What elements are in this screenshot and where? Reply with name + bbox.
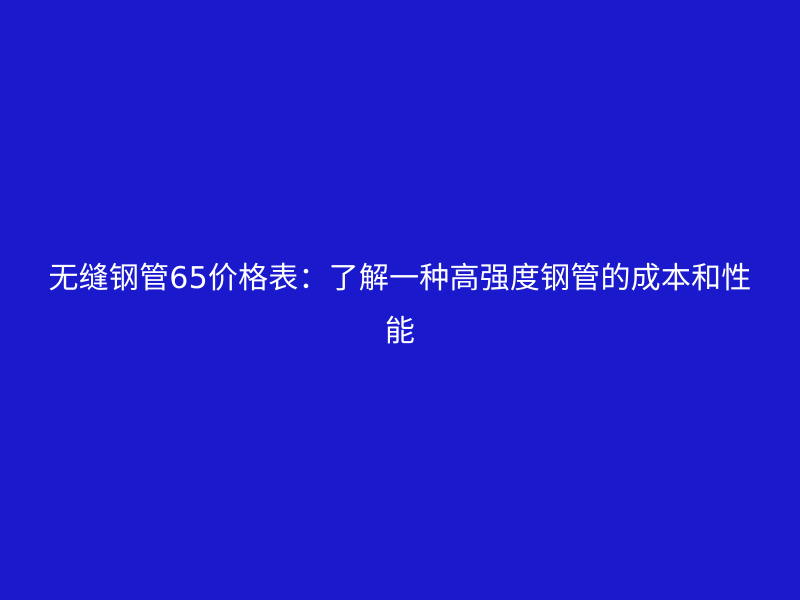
page-title: 无缝钢管65价格表：了解一种高强度钢管的成本和性能: [40, 252, 760, 358]
title-card: 无缝钢管65价格表：了解一种高强度钢管的成本和性能: [0, 0, 800, 600]
headline-block: 无缝钢管65价格表：了解一种高强度钢管的成本和性能: [0, 252, 800, 358]
